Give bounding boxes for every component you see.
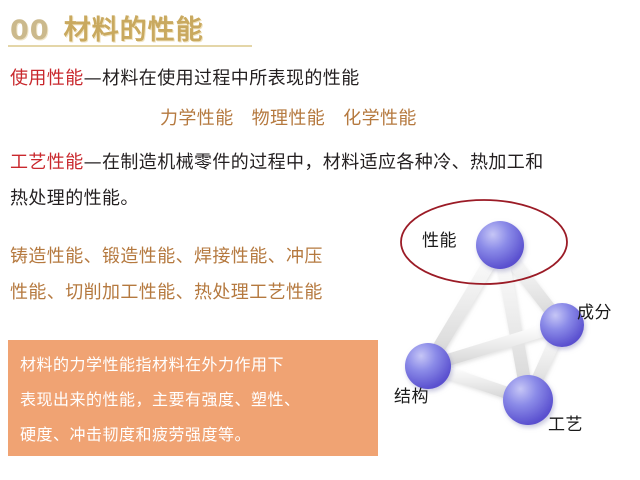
property-physical: 物理性能: [252, 108, 326, 129]
property-mechanical: 力学性能: [160, 108, 234, 129]
craft-performance-keyword: 工艺性能: [10, 152, 84, 173]
use-performance-description: —材料在使用过程中所表现的性能: [84, 68, 360, 89]
callout-line-3: 硬度、冲击韧度和疲劳强度等。: [20, 420, 366, 449]
title-number: 00: [10, 15, 50, 46]
node-label-jiegou: 结构: [394, 382, 429, 407]
craft-performance-description: —在制造机械零件的过程中，材料适应各种冷、热加工和: [84, 152, 544, 173]
tetrahedron-svg: [380, 190, 640, 470]
use-performance-keyword: 使用性能: [10, 68, 84, 89]
mechanical-properties-callout: 材料的力学性能指材料在外力作用下 表现出来的性能，主要有强度、塑性、 硬度、冲击…: [8, 340, 378, 456]
node-label-chengfen: 成分: [577, 298, 612, 323]
callout-line-2: 表现出来的性能，主要有强度、塑性、: [20, 385, 366, 414]
node-gongyi: [503, 375, 553, 425]
material-tetrahedron-diagram: 性能 成分 结构 工艺: [380, 190, 640, 470]
page-title: 00 材料的性能: [10, 8, 204, 47]
craft-list-line-1: 铸造性能、锻造性能、焊接性能、冲压: [10, 242, 323, 268]
three-properties-line: 力学性能物理性能化学性能: [160, 104, 417, 130]
slide-canvas: 00 材料的性能 使用性能—材料在使用过程中所表现的性能 力学性能物理性能化学性…: [0, 0, 640, 480]
title-underline-divider: [8, 45, 252, 47]
craft-performance-line: 工艺性能—在制造机械零件的过程中，材料适应各种冷、热加工和: [10, 148, 544, 174]
craft-performance-line-2: 热处理的性能。: [10, 184, 139, 210]
use-performance-line: 使用性能—材料在使用过程中所表现的性能: [10, 64, 360, 90]
node-label-xingneng: 性能: [422, 226, 457, 251]
callout-line-1: 材料的力学性能指材料在外力作用下: [20, 350, 366, 379]
property-chemical: 化学性能: [343, 108, 417, 129]
node-xingneng: [476, 221, 524, 269]
node-label-gongyi: 工艺: [548, 410, 583, 435]
craft-list-line-2: 性能、切削加工性能、热处理工艺性能: [10, 278, 323, 304]
title-text: 材料的性能: [64, 8, 204, 47]
